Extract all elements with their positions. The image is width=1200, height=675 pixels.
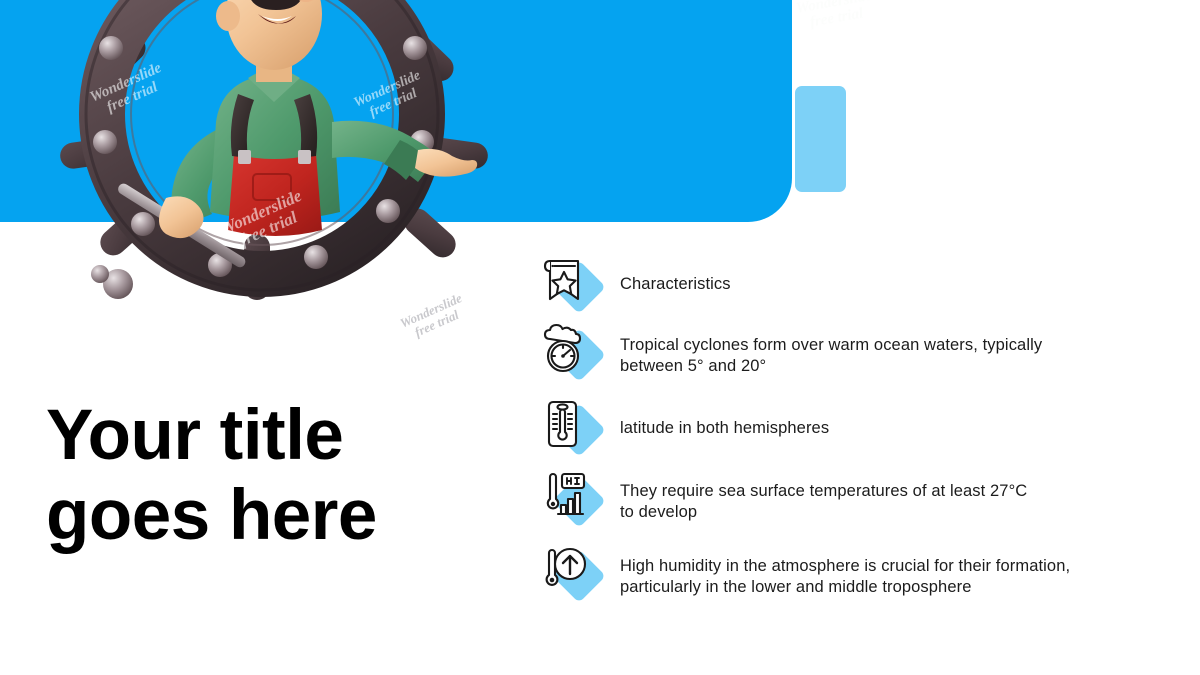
thermometer-chart-hi-icon [538, 469, 590, 521]
thermometer-case-icon [538, 398, 590, 450]
list-item-text-line: particularly in the lower and middle tro… [620, 577, 1070, 598]
list-item[interactable]: latitude in both hemispheres [534, 393, 1154, 464]
list-item-text-line: They require sea surface temperatures of… [620, 481, 1027, 502]
list-item-text: High humidity in the atmosphere is cruci… [620, 556, 1070, 598]
feature-icon-container [534, 254, 608, 316]
list-item[interactable]: Tropical cyclones form over warm ocean w… [534, 318, 1154, 393]
list-item[interactable]: They require sea surface temperatures of… [534, 464, 1154, 539]
feature-list: Characteristics [534, 250, 1154, 614]
feature-icon-container [534, 468, 608, 530]
barometer-clouds-icon [538, 323, 590, 375]
feature-icon-container [534, 397, 608, 459]
list-item-text-line: High humidity in the atmosphere is cruci… [620, 556, 1070, 577]
sailor-ships-wheel-illustration [48, 0, 500, 322]
list-item-text: Characteristics [620, 274, 731, 295]
list-item-text-line: Tropical cyclones form over warm ocean w… [620, 335, 1042, 356]
list-item-text: They require sea surface temperatures of… [620, 481, 1027, 523]
thermometer-rising-arrow-icon [538, 544, 590, 596]
list-item-text-line: to develop [620, 502, 1027, 523]
bookmark-star-icon [538, 255, 590, 307]
feature-icon-container [534, 543, 608, 605]
list-item-text: latitude in both hemispheres [620, 418, 829, 439]
feature-icon-container [534, 322, 608, 384]
list-item-text: Tropical cyclones form over warm ocean w… [620, 335, 1042, 377]
accent-rectangle [795, 86, 846, 192]
page-title: Your title goes here [46, 396, 506, 556]
page-title-line-2: goes here [46, 476, 506, 556]
watermark-wonderslide: Wonderslide free trial [795, 0, 876, 33]
page-title-line-1: Your title [46, 396, 506, 476]
list-item-text-line: latitude in both hemispheres [620, 418, 829, 439]
slide-canvas: Wonderslide free trial Wonderslide free … [0, 0, 1200, 675]
list-item-text-line: Characteristics [620, 274, 731, 295]
watermark-line2: free trial [809, 5, 865, 30]
list-item-text-line: between 5° and 20° [620, 356, 1042, 377]
watermark-line1: Wonderslide [795, 0, 873, 17]
list-item[interactable]: Characteristics [534, 250, 1154, 318]
list-item[interactable]: High humidity in the atmosphere is cruci… [534, 539, 1154, 614]
